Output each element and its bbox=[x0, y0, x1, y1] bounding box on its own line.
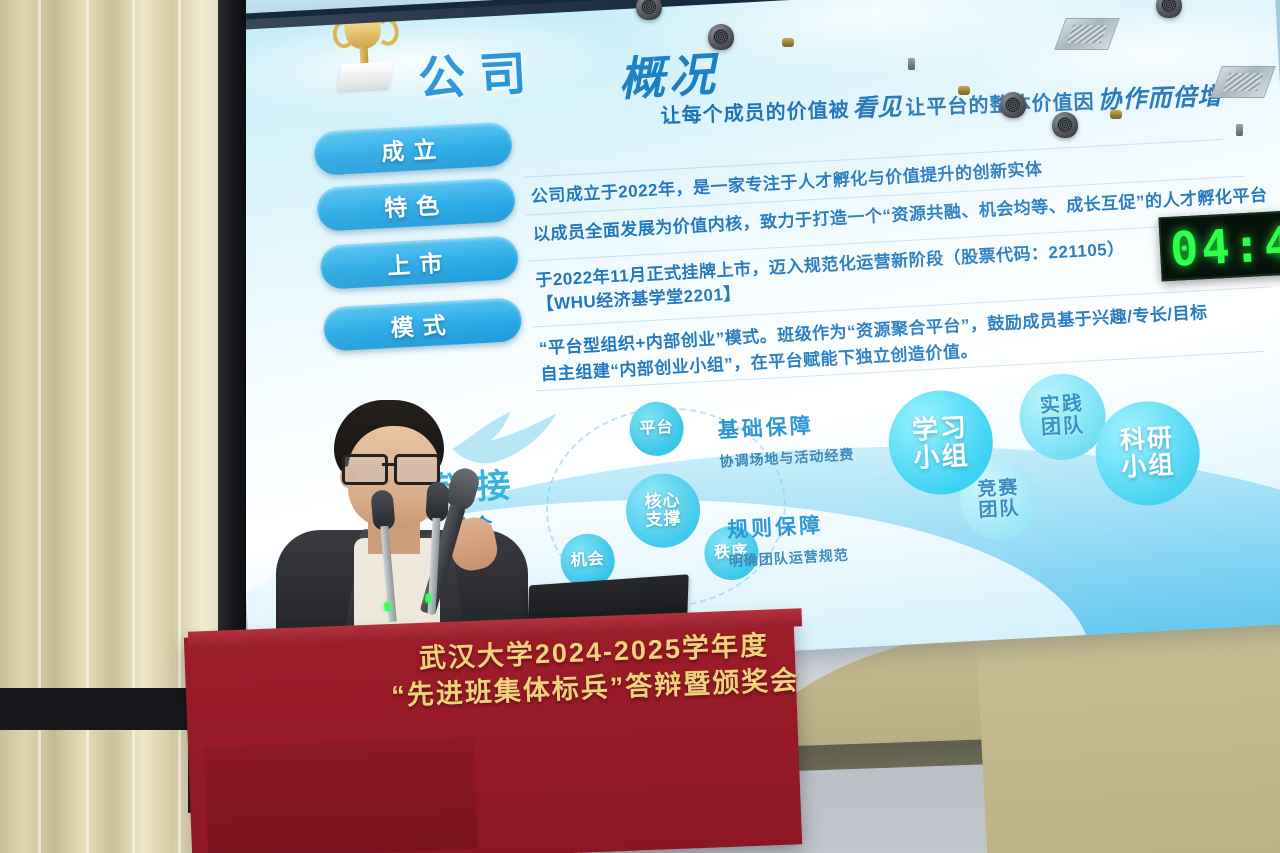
slide-title: 公司 bbox=[416, 34, 542, 109]
guarantee-basic-title: 基础保障 bbox=[717, 407, 853, 444]
ceiling-light-icon bbox=[782, 38, 794, 47]
podium-front-panel bbox=[204, 737, 478, 853]
bubble-practice-team: 实践 团队 bbox=[1017, 372, 1108, 463]
mic-led-indicator bbox=[425, 594, 431, 603]
pill-label-listing: 上市 bbox=[319, 235, 519, 290]
subtitle-cursive-a: 看见 bbox=[849, 94, 906, 123]
trophy-icon bbox=[330, 13, 399, 112]
subtitle-part-a: 让每个成员的价值被 bbox=[660, 99, 850, 127]
guarantee-basic: 基础保障 协调场地与活动经费 bbox=[717, 407, 855, 471]
mic-led-indicator bbox=[384, 602, 391, 611]
pill-label-model: 模式 bbox=[323, 297, 523, 352]
countdown-timer: 04:42 bbox=[1158, 211, 1280, 282]
ceiling-light-icon bbox=[958, 86, 970, 95]
sprinkler-icon bbox=[908, 58, 915, 70]
ceiling-light-icon bbox=[1110, 110, 1122, 119]
body-line-listing: 于2022年11月正式挂牌上市，迈入规范化运营新阶段（股票代码：221105） bbox=[535, 234, 1126, 291]
ceiling-speaker-icon bbox=[1000, 92, 1026, 118]
presentation-photo: 公司 概况 让每个成员的价值被看见让平台的整体价值因协作而倍增 成立 特色 上市… bbox=[0, 0, 1280, 853]
glasses-icon bbox=[342, 454, 446, 480]
guarantee-rules: 规则保障 明确团队运营规范 bbox=[726, 508, 849, 571]
ceiling-speaker-icon bbox=[708, 24, 734, 50]
timer-value: 04:42 bbox=[1169, 215, 1280, 278]
ceiling-speaker-icon bbox=[636, 0, 662, 20]
guarantee-rules-title: 规则保障 bbox=[726, 508, 847, 544]
podium-banner: 武汉大学2024-2025学年度 “先进班集体标兵”答辩暨颁奖会 bbox=[378, 626, 811, 734]
sprinkler-icon bbox=[1236, 124, 1243, 136]
ceiling-speaker-icon bbox=[1052, 112, 1078, 138]
